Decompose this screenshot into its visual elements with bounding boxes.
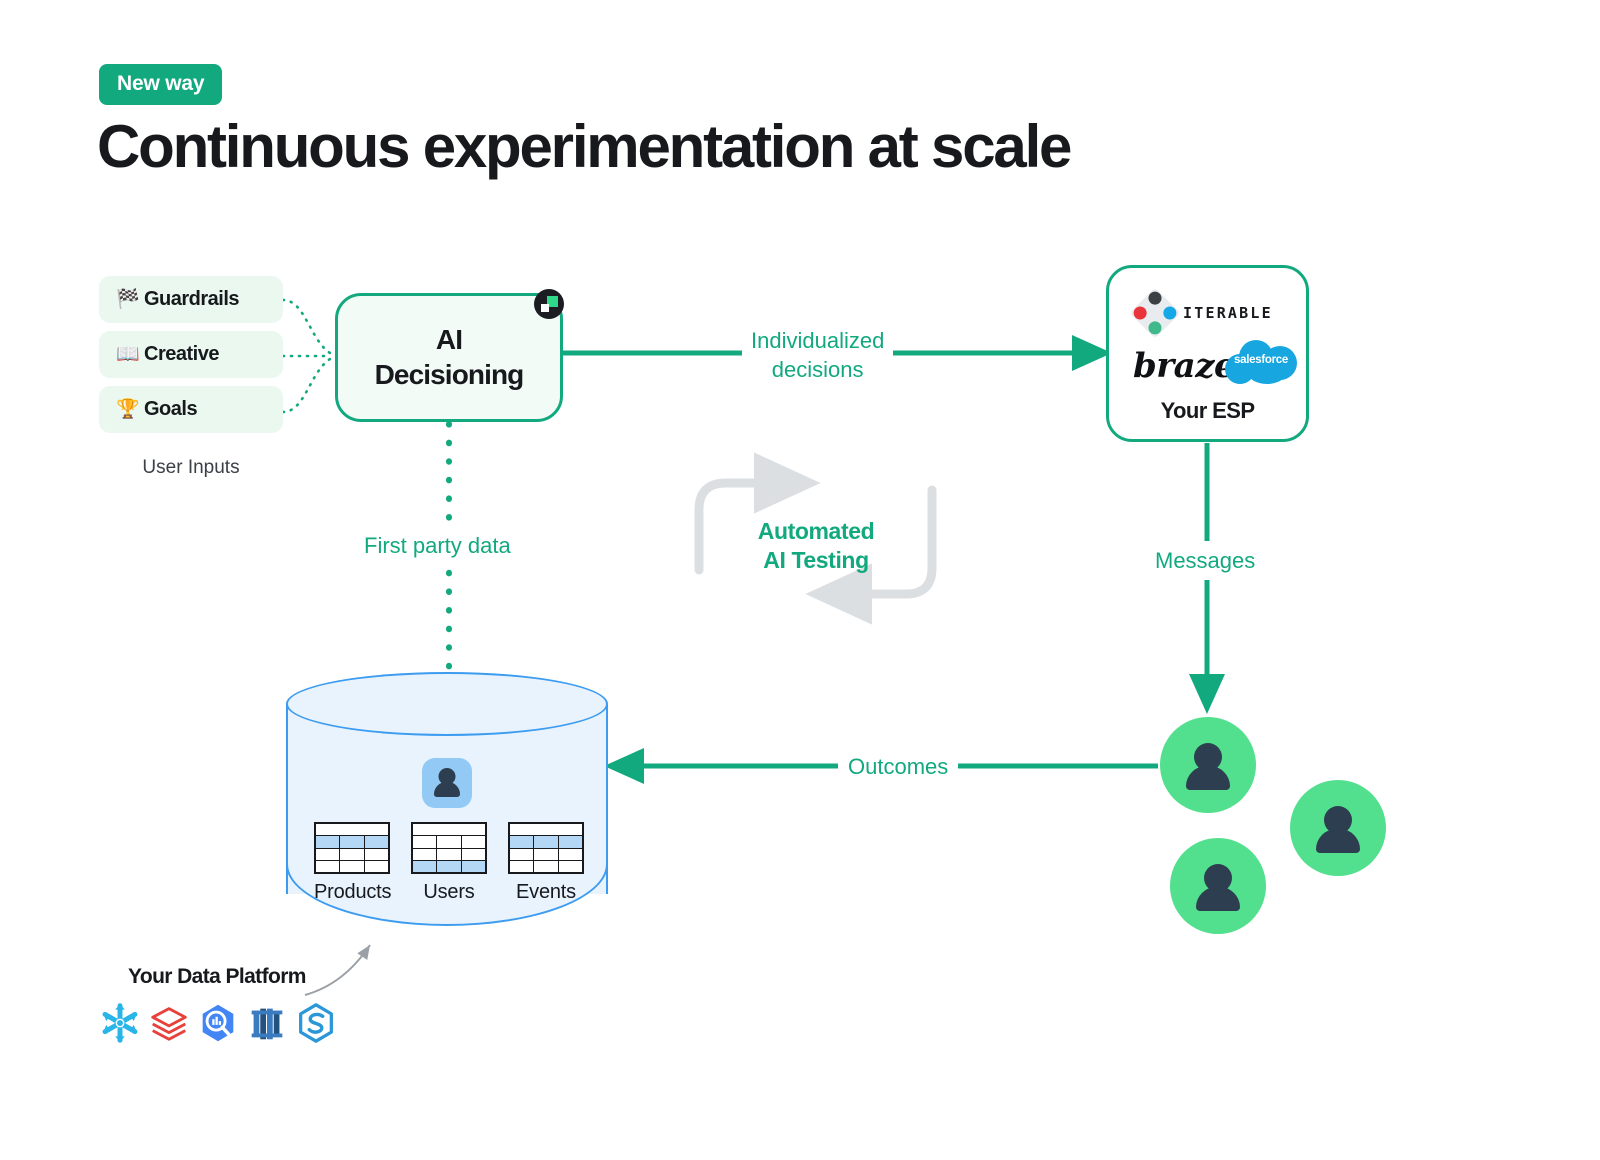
ai-decisioning-line1: AI (375, 323, 524, 358)
ai-decisioning-title: AI Decisioning (375, 323, 524, 392)
db-table-label: Products (314, 881, 390, 904)
bigquery-logo-icon (195, 1000, 241, 1046)
db-table-users: Users (411, 822, 487, 904)
input-pill-label: Guardrails (144, 288, 239, 311)
user-inputs-caption: User Inputs (99, 457, 283, 479)
input-pill-goals[interactable]: 🏆 Goals (99, 386, 283, 433)
iterable-wordmark: ITERABLE (1183, 304, 1273, 322)
table-icon (314, 822, 390, 874)
db-table-label: Events (508, 881, 584, 904)
user-inputs-connectors (283, 300, 330, 412)
diagram-canvas: New way Continuous experimentation at sc… (0, 0, 1600, 1160)
label-first-party-data: First party data (356, 528, 519, 563)
input-pill-guardrails[interactable]: 🏁 Guardrails (99, 276, 283, 323)
iterable-logo-row: ITERABLE (1137, 295, 1273, 331)
audience-avatar (1160, 717, 1256, 813)
label-line1: Individualized (751, 326, 884, 355)
ai-decisioning-card[interactable]: AI Decisioning (335, 293, 563, 422)
audience-avatar (1170, 838, 1266, 934)
salesforce-logo-icon: salesforce (1225, 338, 1297, 384)
automated-ai-testing-label: Automated AI Testing (728, 517, 904, 575)
braze-logo-icon: braze (1133, 346, 1235, 386)
table-icon (508, 822, 584, 874)
page-title: Continuous experimentation at scale (97, 112, 1070, 181)
db-table-products: Products (314, 822, 390, 904)
input-pill-label: Creative (144, 343, 219, 366)
trophy-icon: 🏆 (116, 400, 144, 419)
table-icon (411, 822, 487, 874)
label-messages: Messages (1149, 541, 1261, 580)
label-outcomes: Outcomes (838, 752, 958, 781)
iterable-logo-icon (1130, 288, 1181, 339)
label-line2: decisions (751, 355, 884, 384)
databricks-logo-icon (146, 1000, 192, 1046)
audience-avatar (1290, 780, 1386, 876)
checkered-flag-icon: 🏁 (116, 290, 144, 309)
input-pill-label: Goals (144, 398, 197, 421)
db-table-label: Users (411, 881, 487, 904)
input-pill-creative[interactable]: 📖 Creative (99, 331, 283, 378)
user-avatar-icon (422, 758, 472, 808)
db-tables-row: Products Users Events (314, 822, 584, 904)
data-platform-pointer (305, 945, 370, 995)
ai-decisioning-line2: Decisioning (375, 358, 524, 393)
db-table-events: Events (508, 822, 584, 904)
redshift-logo-icon (244, 1000, 290, 1046)
salesforce-wordmark: salesforce (1225, 354, 1297, 366)
amplitude-logo-icon (534, 289, 564, 319)
your-esp-caption: Your ESP (1109, 398, 1306, 424)
open-book-icon: 📖 (116, 345, 144, 364)
label-individualized-decisions: Individualized decisions (742, 326, 893, 384)
data-platform-logos (97, 1000, 342, 1046)
snowflake-logo-icon (97, 1000, 143, 1046)
azure-synapse-logo-icon (293, 1000, 339, 1046)
user-inputs-group: 🏁 Guardrails 📖 Creative 🏆 Goals (99, 276, 283, 441)
automated-testing-line1: Automated (728, 517, 904, 546)
data-platform-cylinder: Products Users Events (286, 672, 608, 926)
your-data-platform-label: Your Data Platform (128, 965, 306, 989)
automated-testing-line2: AI Testing (728, 546, 904, 575)
cylinder-top (286, 672, 608, 736)
new-way-badge: New way (99, 64, 222, 105)
logo-square-white (541, 304, 549, 312)
your-esp-card[interactable]: ITERABLE braze salesforce Your ESP (1106, 265, 1309, 442)
